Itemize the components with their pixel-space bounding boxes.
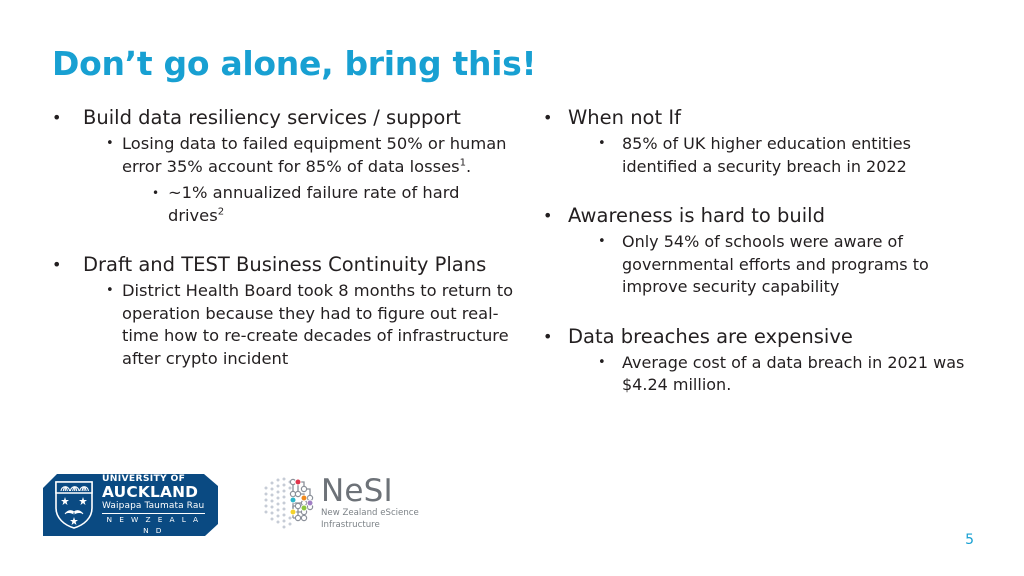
auckland-line-new-zealand: N E W Z E A L A N D [102, 513, 205, 538]
bullet-group-continuity: • Draft and TEST Business Continuity Pla… [46, 251, 516, 370]
bullet-level2-text: Losing data to failed equipment 50% or h… [122, 133, 516, 178]
spacer [536, 299, 976, 323]
bullet-group-awareness: • Awareness is hard to build • Only 54% … [536, 202, 976, 299]
bullet-group-resiliency: • Build data resiliency services / suppo… [46, 104, 516, 227]
nesi-tagline-line1: New Zealand eScience [321, 508, 419, 519]
bullet-level2-tail: . [466, 157, 471, 176]
bullet-level1-text: When not If [568, 104, 976, 131]
bullet-level2: • 85% of UK higher education entities id… [536, 133, 976, 178]
bullet-level3: • ~1% annualized failure rate of hard dr… [46, 182, 516, 227]
bullet-dot-icon: • [543, 202, 552, 229]
bullet-level2-body: Losing data to failed equipment 50% or h… [122, 134, 507, 176]
bullet-level1-text: Draft and TEST Business Continuity Plans [83, 251, 516, 278]
nesi-lattice-icon [260, 472, 318, 534]
footnote-marker-2: 2 [218, 206, 224, 217]
bullet-level2: • Only 54% of schools were aware of gove… [536, 231, 976, 299]
nesi-tagline-line2: Infrastructure [321, 520, 419, 531]
nesi-node-purple [307, 500, 313, 506]
nesi-logo: NeSI New Zealand eScience Infrastructure [260, 468, 420, 538]
auckland-crest-icon [53, 480, 95, 530]
bullet-dot-icon: • [598, 231, 606, 254]
auckland-line-university-of: UNIVERSITY OF [102, 473, 205, 484]
bullet-dot-icon: • [106, 280, 114, 303]
university-of-auckland-logo: UNIVERSITY OF AUCKLAND Waipapa Taumata R… [43, 474, 218, 536]
bullet-level2-text: District Health Board took 8 months to r… [122, 280, 516, 370]
nesi-name-text: NeSI [321, 476, 419, 507]
bullet-level2-text: Average cost of a data breach in 2021 wa… [622, 352, 976, 397]
slide: Don’t go alone, bring this! • Build data… [0, 0, 1024, 576]
right-content-column: • When not If • 85% of UK higher educati… [536, 104, 976, 397]
bullet-level2: • Average cost of a data breach in 2021 … [536, 352, 976, 397]
bullet-level1: • Awareness is hard to build [536, 202, 976, 229]
nesi-wordmark: NeSI New Zealand eScience Infrastructure [321, 476, 419, 531]
nesi-node-cyan [290, 497, 296, 503]
bullet-dot-icon: • [598, 133, 606, 156]
spacer [46, 227, 516, 251]
bullet-dot-icon: • [152, 182, 159, 205]
bullet-level1: • When not If [536, 104, 976, 131]
bullet-group-when-not-if: • When not If • 85% of UK higher educati… [536, 104, 976, 178]
bullet-level2: • Losing data to failed equipment 50% or… [46, 133, 516, 178]
nesi-node-red [295, 479, 301, 485]
bullet-level2-text: 85% of UK higher education entities iden… [622, 133, 976, 178]
bullet-dot-icon: • [52, 104, 61, 131]
slide-number: 5 [965, 532, 974, 548]
auckland-line-auckland: AUCKLAND [102, 484, 205, 500]
bullet-level1-text: Awareness is hard to build [568, 202, 976, 229]
nesi-node-yellow [290, 509, 296, 515]
bullet-dot-icon: • [52, 251, 61, 278]
nesi-node-orange [301, 495, 307, 501]
bullet-level2: • District Health Board took 8 months to… [46, 280, 516, 370]
page-title: Don’t go alone, bring this! [52, 44, 536, 83]
bullet-level1: • Draft and TEST Business Continuity Pla… [46, 251, 516, 278]
bullet-level3-body: ~1% annualized failure rate of hard driv… [168, 183, 459, 225]
bullet-group-breach-cost: • Data breaches are expensive • Average … [536, 323, 976, 397]
bullet-level1-text: Build data resiliency services / support [83, 104, 516, 131]
bullet-dot-icon: • [543, 323, 552, 350]
left-content-column: • Build data resiliency services / suppo… [46, 104, 516, 370]
bullet-level1: • Build data resiliency services / suppo… [46, 104, 516, 131]
bullet-dot-icon: • [543, 104, 552, 131]
auckland-logo-text: UNIVERSITY OF AUCKLAND Waipapa Taumata R… [102, 473, 205, 538]
auckland-line-maori: Waipapa Taumata Rau [102, 500, 205, 512]
bullet-dot-icon: • [598, 352, 606, 375]
bullet-level2-text: Only 54% of schools were aware of govern… [622, 231, 976, 299]
bullet-level3-text: ~1% annualized failure rate of hard driv… [168, 182, 516, 227]
bullet-level1-text: Data breaches are expensive [568, 323, 976, 350]
spacer [536, 178, 976, 202]
bullet-dot-icon: • [106, 133, 114, 156]
nesi-node-green [301, 505, 307, 511]
bullet-level1: • Data breaches are expensive [536, 323, 976, 350]
